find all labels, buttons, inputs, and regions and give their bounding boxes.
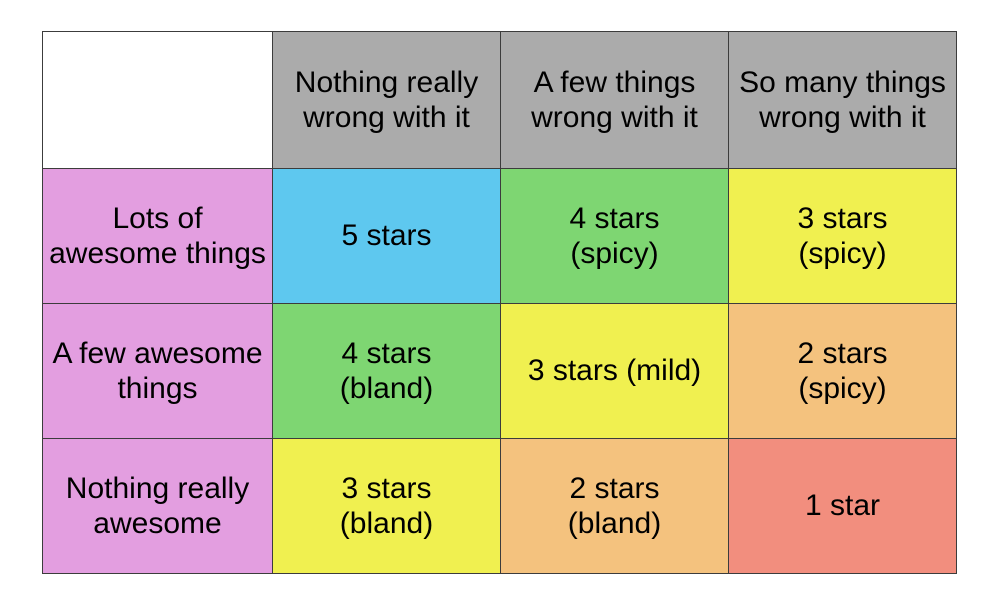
column-header-1-label: Nothing really wrong with it [279,65,494,136]
matrix-cell-r2c3-label: 2 stars (spicy) [735,336,950,407]
matrix-cell-r1c1: 5 stars [273,169,501,304]
rating-matrix-container: Nothing really wrong with it A few thing… [0,0,1000,605]
matrix-cell-r2c3: 2 stars (spicy) [729,304,957,439]
matrix-row-3: Nothing really awesome 3 stars (bland) 2… [43,439,957,574]
matrix-cell-r3c1-label: 3 stars (bland) [279,471,494,542]
row-header-2-label: A few awesome things [49,336,266,407]
row-header-2: A few awesome things [43,304,273,439]
column-header-1: Nothing really wrong with it [273,32,501,169]
matrix-cell-r3c2-label: 2 stars (bland) [507,471,722,542]
column-header-3-label: So many things wrong with it [735,65,950,136]
row-header-1: Lots of awesome things [43,169,273,304]
matrix-cell-r2c1: 4 stars (bland) [273,304,501,439]
column-header-3: So many things wrong with it [729,32,957,169]
matrix-cell-r1c2-label: 4 stars (spicy) [507,201,722,272]
column-header-2-label: A few things wrong with it [507,65,722,136]
rating-matrix-table: Nothing really wrong with it A few thing… [42,31,957,574]
column-header-2: A few things wrong with it [501,32,729,169]
matrix-cell-r1c3-label: 3 stars (spicy) [735,201,950,272]
matrix-cell-r1c3: 3 stars (spicy) [729,169,957,304]
row-header-3: Nothing really awesome [43,439,273,574]
matrix-cell-r2c1-label: 4 stars (bland) [279,336,494,407]
row-header-3-label: Nothing really awesome [49,471,266,542]
matrix-corner-cell [43,32,273,169]
matrix-cell-r3c2: 2 stars (bland) [501,439,729,574]
row-header-1-label: Lots of awesome things [49,201,266,272]
matrix-cell-r3c3: 1 star [729,439,957,574]
matrix-header-row: Nothing really wrong with it A few thing… [43,32,957,169]
matrix-cell-r1c1-label: 5 stars [279,218,494,253]
matrix-row-2: A few awesome things 4 stars (bland) 3 s… [43,304,957,439]
matrix-cell-r2c2: 3 stars (mild) [501,304,729,439]
matrix-cell-r3c3-label: 1 star [735,488,950,523]
matrix-cell-r1c2: 4 stars (spicy) [501,169,729,304]
matrix-cell-r3c1: 3 stars (bland) [273,439,501,574]
matrix-cell-r2c2-label: 3 stars (mild) [507,353,722,388]
matrix-row-1: Lots of awesome things 5 stars 4 stars (… [43,169,957,304]
